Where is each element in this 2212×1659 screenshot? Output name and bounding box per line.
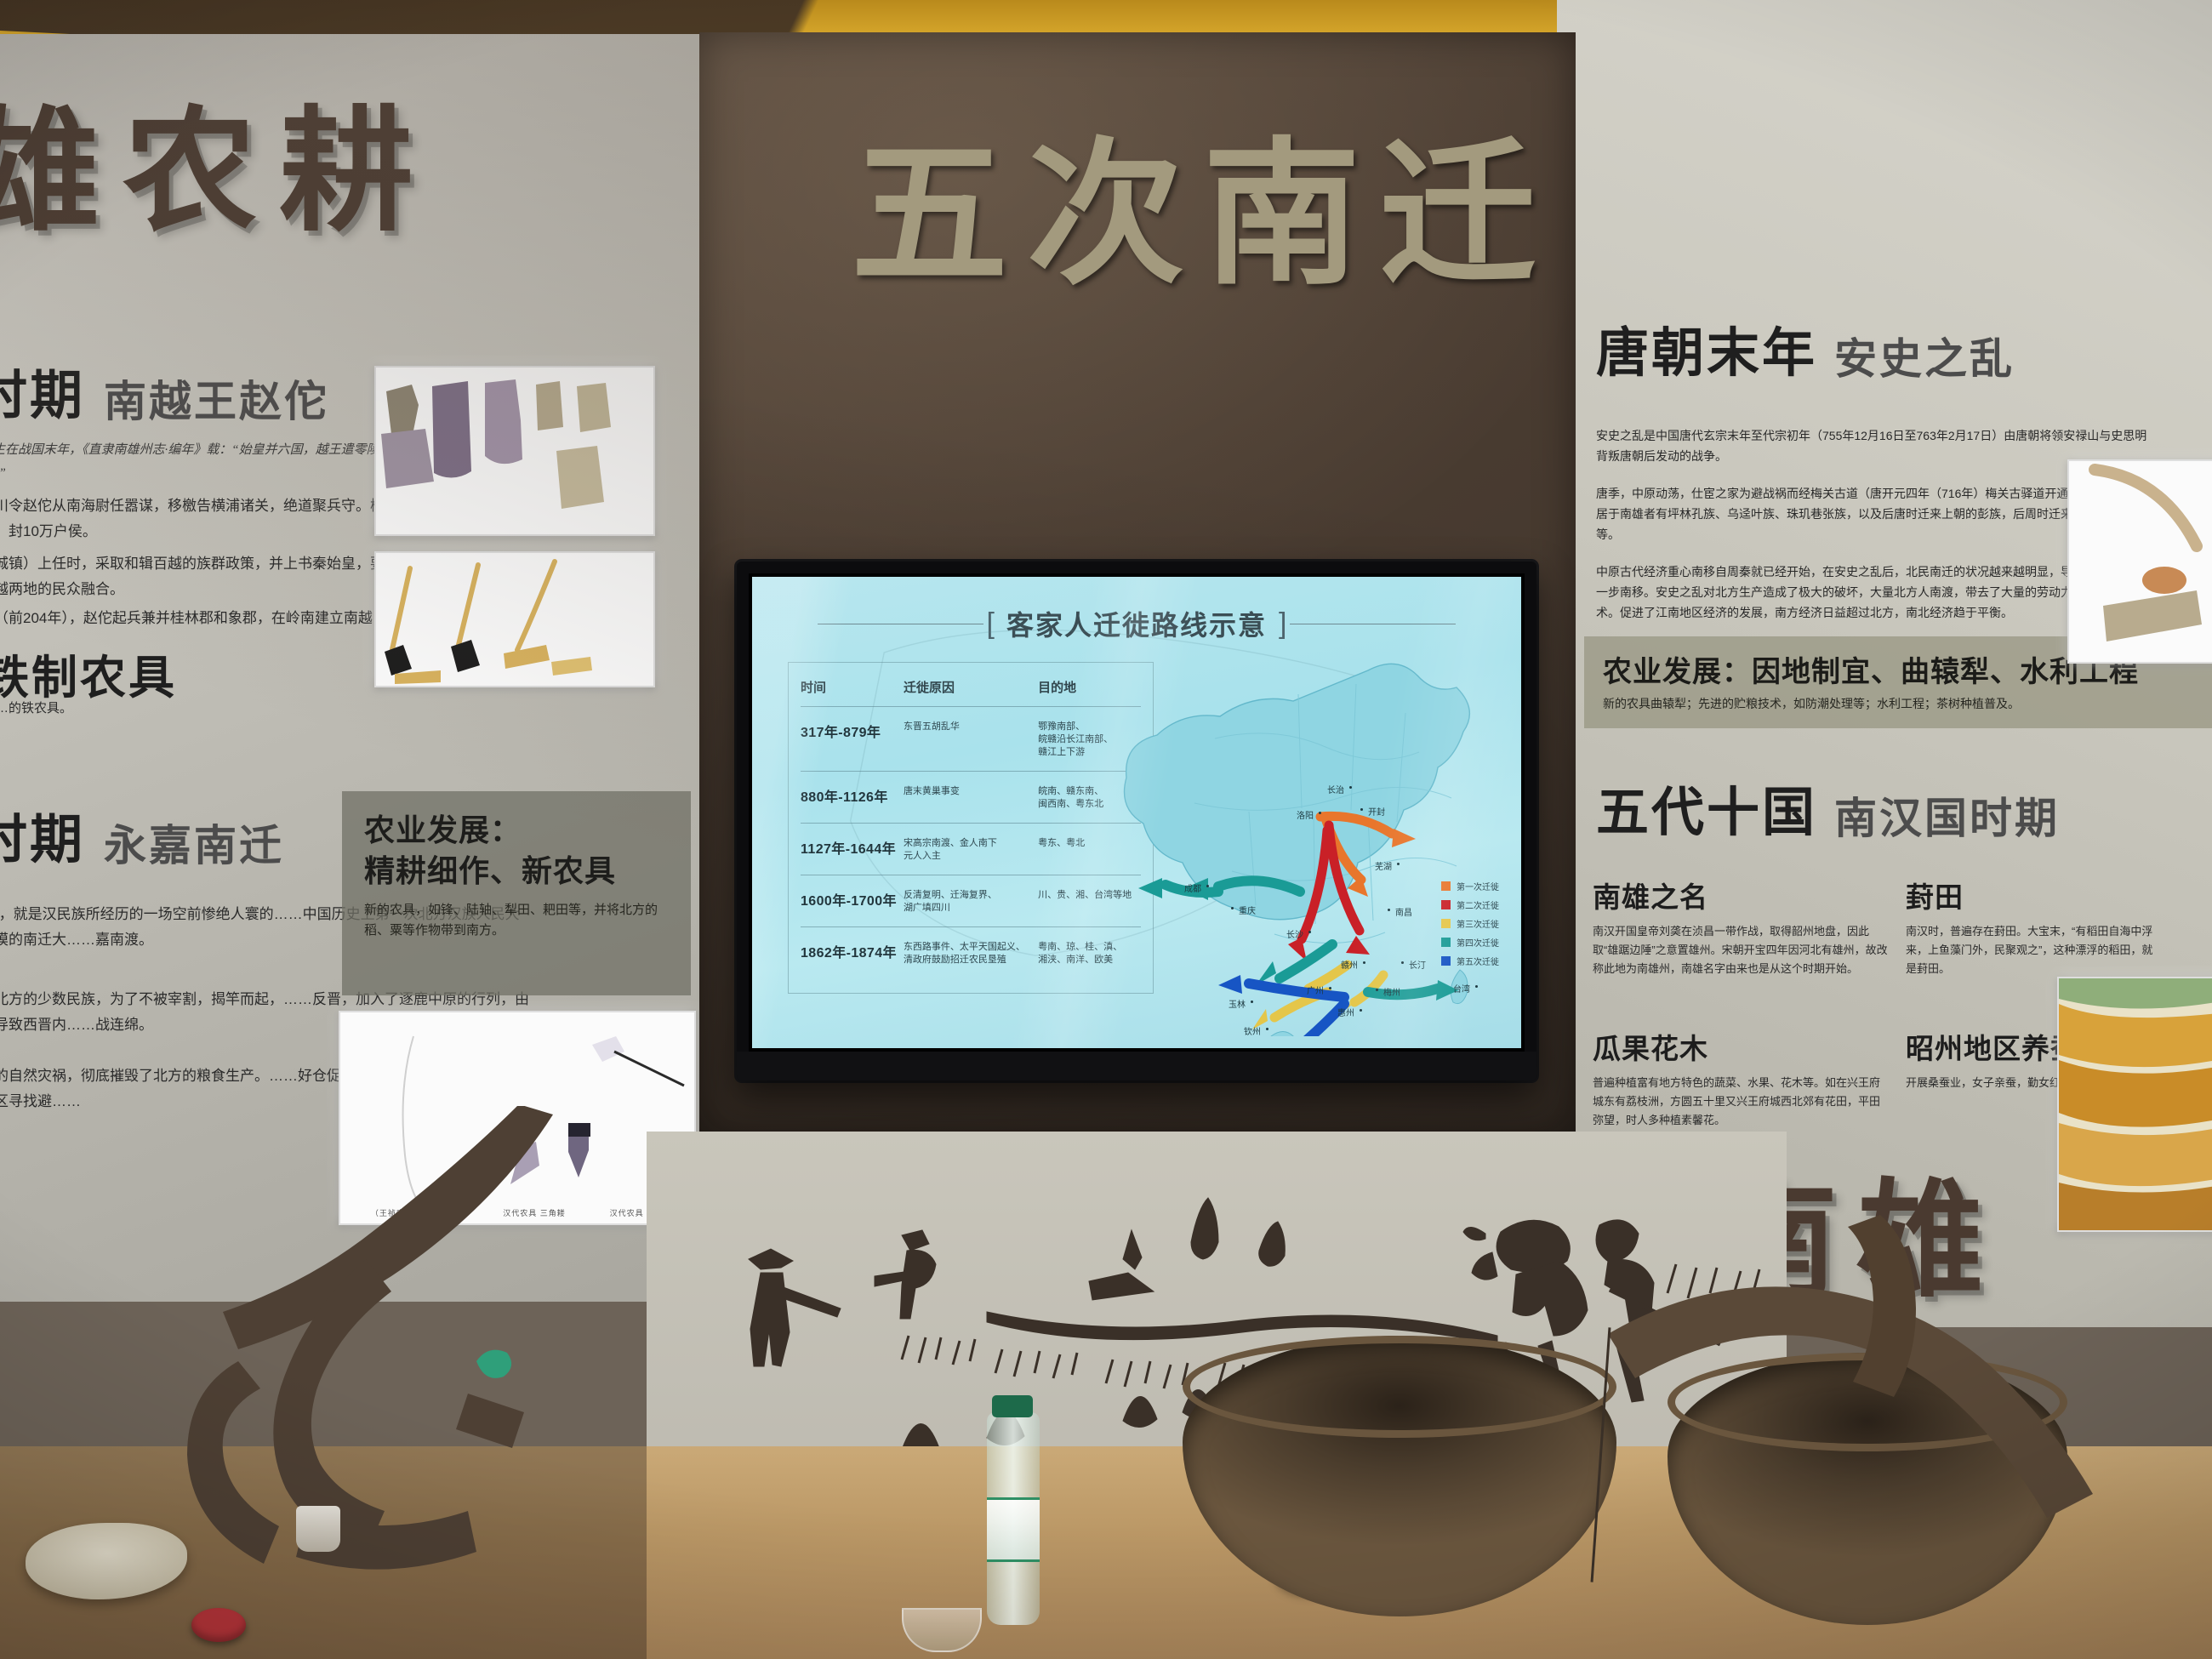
legend-item: 第五次迁徙 — [1441, 955, 1499, 967]
legend-label: 第五次迁徙 — [1457, 955, 1499, 967]
red-tin-lid — [191, 1608, 246, 1642]
table-row: 1862年-1874年 东西路事件、太平天国起义、 清政府鼓励招迁农民垦殖 粤南… — [801, 926, 1141, 978]
city-label: 赣州 — [1341, 958, 1358, 971]
city-label: 开封 — [1368, 805, 1385, 818]
city-label: 钦州 — [1244, 1024, 1261, 1037]
china-migration-map: 长治 洛阳 开封 芜湖 成都 重庆 南昌 长沙 赣州 长汀 广州 梅州 惠州 玉… — [1113, 636, 1513, 1036]
city-label: 长汀 — [1409, 958, 1426, 971]
city-label: 梅州 — [1383, 985, 1400, 998]
right-subsection-2: 葑田 南汉时，普遍存在葑田。大宝末，“有稻田自海中浮来，上鱼藻门外，民聚观之”，… — [1906, 875, 2161, 978]
city-label: 台湾 — [1453, 982, 1470, 995]
city-label: 玉林 — [1229, 997, 1246, 1010]
right-subsection-2-title: 葑田 — [1906, 875, 2161, 915]
paper-cup — [296, 1506, 340, 1552]
legend-item: 第一次迁徙 — [1441, 880, 1499, 892]
ox-yoke-artifact — [1599, 1191, 2212, 1548]
legend-swatch-fourth — [1441, 938, 1451, 947]
cell-reason: 唐末黄巢事变 — [904, 785, 1038, 811]
right-section-2-heading: 五代十国 南汉国时期 — [1596, 783, 2192, 846]
city-label: 广州 — [1307, 983, 1324, 996]
table-row: 1127年-1644年 宋高宗南渡、金人南下 元人入主 粤东、粤北 — [801, 823, 1141, 875]
legend-swatch-third — [1441, 919, 1451, 928]
right-section-1-heading-sub: 安史之乱 — [1834, 325, 2015, 386]
map-svg — [1113, 636, 1513, 1036]
ox-yoke-svg — [1599, 1191, 2212, 1548]
center-panel-title: 五次南迁 — [851, 136, 1506, 298]
legend-swatch-second — [1441, 900, 1451, 909]
table-row: 1600年-1700年 反清复明、迁海复界、 湖广填四川 川、贵、湘、台湾等地 — [801, 875, 1141, 926]
right-subsection-3: 瓜果花木 普遍种植富有地方特色的蔬菜、水果、花木等。如在兴王府城东有荔枝洲，方圆… — [1593, 1026, 1890, 1130]
right-band-sub: 新的农具曲辕犁；先进的贮粮技术，如防潮处理等；水利工程；茶树种植普及。 — [1603, 695, 2195, 712]
cell-reason: 反清复明、迁海复界、 湖广填四川 — [904, 889, 1038, 915]
legend-label: 第一次迁徙 — [1457, 880, 1499, 892]
wall-mounted-display[interactable]: [ 客家人迁徙路线示意 ] 时间 迁徙原因 目的地 — [737, 562, 1536, 1080]
city-label: 洛阳 — [1297, 808, 1314, 821]
bottle-label — [987, 1497, 1040, 1562]
right-section-2-heading-sub: 南汉国时期 — [1834, 784, 2060, 846]
legend-item: 第二次迁徙 — [1441, 898, 1499, 911]
right-subsection-1-body: 南汉开国皇帝刘䶮在浈昌一带作战，取得韶州地盘，因此取“雄踞边陲”之意置雄州。宋朝… — [1593, 922, 1890, 978]
cell-time: 317年-879年 — [801, 721, 904, 759]
display-lower-bezel — [737, 1052, 1536, 1080]
legend-swatch-first — [1441, 881, 1451, 891]
legend-label: 第三次迁徙 — [1457, 917, 1499, 930]
right-subsection-3-title: 瓜果花木 — [1593, 1026, 1890, 1067]
city-label: 惠州 — [1337, 1006, 1354, 1018]
migration-table-header: 时间 迁徙原因 目的地 — [801, 673, 1141, 706]
lightbox-right-tool — [2067, 459, 2212, 664]
cell-time: 880年-1126年 — [801, 785, 904, 811]
cell-reason: 东晋五胡乱华 — [904, 721, 1038, 759]
legend-item: 第三次迁徙 — [1441, 917, 1499, 930]
city-label: 长沙 — [1286, 927, 1303, 940]
col-header-time: 时间 — [801, 678, 904, 696]
cell-time: 1127年-1644年 — [801, 837, 904, 863]
map-legend: 第一次迁徙 第二次迁徙 第三次迁徙 — [1441, 880, 1499, 973]
right-section-2-heading-main: 五代十国 — [1596, 769, 1817, 846]
right-subsection-3-body: 普遍种植富有地方特色的蔬菜、水果、花木等。如在兴王府城东有荔枝洲，方圆五十里又兴… — [1593, 1074, 1890, 1130]
legend-label: 第二次迁徙 — [1457, 898, 1499, 911]
table-row: 317年-879年 东晋五胡乱华 鄂豫南部、 皖赣沿长江南部、 赣江上下游 — [801, 706, 1141, 771]
table-row: 880年-1126年 唐末黄巢事变 皖南、赣东南、 闽西南、粤东北 — [801, 771, 1141, 823]
col-header-reason: 迁徙原因 — [904, 678, 1038, 696]
migration-table: 时间 迁徙原因 目的地 317年-879年 东晋五胡乱华 鄂豫南部、 皖赣沿长江… — [788, 662, 1154, 994]
right-subsection-2-body: 南汉时，普遍存在葑田。大宝末，“有稻田自海中浮来，上鱼藻门外，民聚观之”，这种漂… — [1906, 922, 2161, 978]
cell-reason: 东西路事件、太平天国起义、 清政府鼓励招迁农民垦殖 — [904, 941, 1038, 966]
right-subsection-1: 南雄之名 南汉开国皇帝刘䶮在浈昌一带作战，取得韶州地盘，因此取“雄踞边陲”之意置… — [1593, 875, 1890, 978]
bottle-cap — [992, 1395, 1033, 1417]
wooden-plough-artifact — [111, 1106, 791, 1650]
cell-reason: 宋高宗南渡、金人南下 元人入主 — [904, 837, 1038, 863]
slide-migration-routes: [ 客家人迁徙路线示意 ] 时间 迁徙原因 目的地 — [752, 577, 1521, 1048]
cell-time: 1600年-1700年 — [801, 889, 904, 915]
legend-label: 第四次迁徙 — [1457, 936, 1499, 949]
right-section-1-heading-main: 唐朝末年 — [1596, 310, 1817, 386]
plough-svg — [111, 1106, 791, 1650]
city-label: 长治 — [1327, 783, 1344, 795]
basket-left-rim — [1183, 1336, 1616, 1438]
display-screen[interactable]: [ 客家人迁徙路线示意 ] 时间 迁徙原因 目的地 — [752, 577, 1521, 1048]
right-subsection-1-title: 南雄之名 — [1593, 875, 1890, 915]
city-label: 芜湖 — [1375, 859, 1392, 872]
right-tool-illustration — [2069, 461, 2212, 662]
cell-time: 1862年-1874年 — [801, 941, 904, 966]
city-label: 南昌 — [1395, 905, 1412, 918]
city-label: 重庆 — [1239, 904, 1256, 916]
right-section-1-heading: 唐朝末年 安史之乱 — [1596, 322, 2192, 386]
display-bezel: [ 客家人迁徙路线示意 ] 时间 迁徙原因 目的地 — [749, 573, 1525, 1052]
legend-item: 第四次迁徙 — [1441, 936, 1499, 949]
city-label: 成都 — [1184, 881, 1201, 894]
exhibition-hall-photo: 雄农耕 时期 南越王赵佗 发生在战国末年，《直隶南雄州志·编年》载：“始皇并六国… — [0, 0, 2212, 1659]
legend-swatch-fifth — [1441, 956, 1451, 966]
